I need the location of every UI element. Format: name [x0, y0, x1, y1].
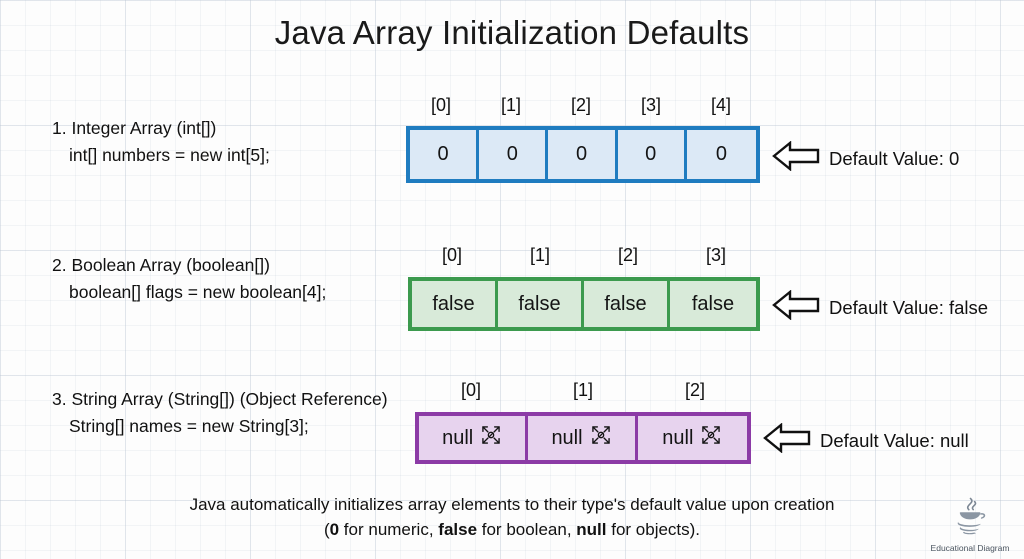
row-label-string: 3. String Array (String[]) (Object Refer… — [52, 386, 388, 440]
index-label-int-1: [1] — [476, 95, 546, 116]
index-label-str-2: [2] — [639, 380, 751, 401]
index-label-int-0: [0] — [406, 95, 476, 116]
row-code-integer: int[] numbers = new int[5]; — [52, 142, 270, 169]
array-cell: false — [412, 281, 498, 327]
array-boolean: false false false false — [408, 277, 760, 331]
row-label-integer: 1. Integer Array (int[]) int[] numbers =… — [52, 115, 270, 169]
array-cell: null — [419, 416, 528, 460]
cell-value: false — [692, 293, 734, 316]
index-label-bool-2: [2] — [584, 245, 672, 266]
index-label-bool-3: [3] — [672, 245, 760, 266]
left-arrow-icon — [763, 423, 811, 458]
cell-value: null — [442, 427, 473, 450]
cell-value: 0 — [716, 143, 727, 166]
callout-text-string: Default Value: null — [820, 430, 969, 452]
java-cup-icon — [947, 524, 993, 541]
index-label-str-0: [0] — [415, 380, 527, 401]
null-reference-icon — [590, 424, 612, 452]
row-label-boolean: 2. Boolean Array (boolean[]) boolean[] f… — [52, 252, 326, 306]
callout-boolean: Default Value: false — [772, 290, 988, 325]
array-cell: 0 — [548, 130, 617, 179]
array-integer: 0 0 0 0 0 — [406, 126, 760, 183]
null-reference-icon — [700, 424, 722, 452]
footer-note: Java automatically initializes array ele… — [0, 492, 1024, 542]
cell-value: 0 — [507, 143, 518, 166]
callout-string: Default Value: null — [763, 423, 969, 458]
footer-suffix: for objects). — [607, 520, 701, 539]
row-code-boolean: boolean[] flags = new boolean[4]; — [52, 279, 326, 306]
array-cell: 0 — [410, 130, 479, 179]
left-arrow-icon — [772, 290, 820, 325]
brand-block: Educational Diagram — [924, 495, 1016, 553]
row-code-string: String[] names = new String[3]; — [52, 413, 388, 440]
cell-value: 0 — [576, 143, 587, 166]
footer-line-1: Java automatically initializes array ele… — [0, 492, 1024, 517]
left-arrow-icon — [772, 141, 820, 176]
footer-mid-1: for numeric, — [339, 520, 438, 539]
footer-mid-2: for boolean, — [477, 520, 576, 539]
cell-value: false — [518, 293, 560, 316]
row-heading-string: 3. String Array (String[]) (Object Refer… — [52, 389, 388, 409]
array-cell: 0 — [687, 130, 756, 179]
cell-value: null — [551, 427, 582, 450]
index-label-bool-0: [0] — [408, 245, 496, 266]
array-cell: false — [670, 281, 756, 327]
null-reference-icon — [480, 424, 502, 452]
brand-caption: Educational Diagram — [924, 543, 1016, 553]
cell-value: false — [604, 293, 646, 316]
index-label-str-1: [1] — [527, 380, 639, 401]
array-cell: 0 — [618, 130, 687, 179]
cell-value: 0 — [645, 143, 656, 166]
diagram-canvas: Java Array Initialization Defaults 1. In… — [0, 0, 1024, 559]
cell-value: 0 — [438, 143, 449, 166]
index-label-int-2: [2] — [546, 95, 616, 116]
array-cell: null — [528, 416, 637, 460]
index-label-bool-1: [1] — [496, 245, 584, 266]
callout-text-boolean: Default Value: false — [829, 297, 988, 319]
callout-text-integer: Default Value: 0 — [829, 148, 959, 170]
callout-integer: Default Value: 0 — [772, 141, 959, 176]
index-label-int-3: [3] — [616, 95, 686, 116]
array-string: null null — [415, 412, 751, 464]
page-title: Java Array Initialization Defaults — [0, 14, 1024, 52]
row-heading-boolean: 2. Boolean Array (boolean[]) — [52, 255, 270, 275]
array-cell: 0 — [479, 130, 548, 179]
row-heading-integer: 1. Integer Array (int[]) — [52, 118, 216, 138]
cell-value: false — [432, 293, 474, 316]
footer-bold-false: false — [438, 520, 477, 539]
index-label-int-4: [4] — [686, 95, 756, 116]
cell-value: null — [662, 427, 693, 450]
footer-bold-null: null — [576, 520, 606, 539]
array-cell: null — [638, 416, 747, 460]
array-cell: false — [498, 281, 584, 327]
footer-bold-zero: 0 — [330, 520, 339, 539]
footer-line-2: (0 for numeric, false for boolean, null … — [0, 517, 1024, 542]
array-cell: false — [584, 281, 670, 327]
